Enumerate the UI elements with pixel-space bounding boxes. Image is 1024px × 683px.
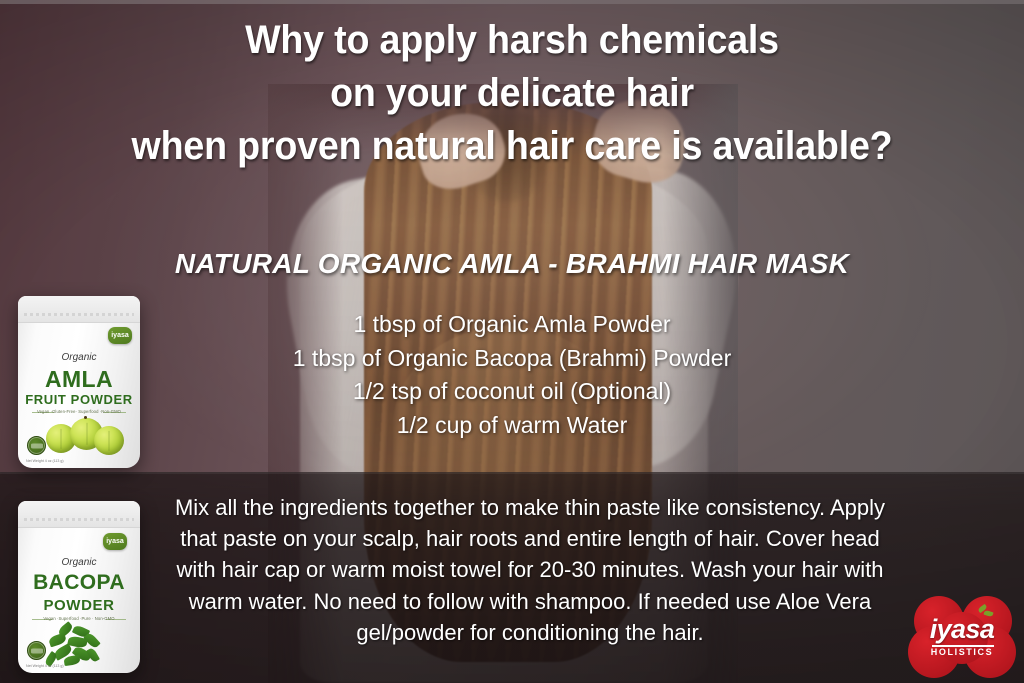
pouch-tagline: Vegan ·Superfood ·Pure · Non-GMO bbox=[18, 616, 140, 621]
leaf-icon bbox=[63, 655, 80, 666]
infographic-poster: Why to apply harsh chemicals on your del… bbox=[0, 0, 1024, 683]
leaf-icon bbox=[86, 647, 100, 663]
top-edge-strip bbox=[0, 0, 1024, 4]
logo-tagline: HOLISTICS bbox=[908, 647, 1016, 657]
brand-logo: iyasa HOLISTICS bbox=[908, 588, 1016, 683]
pouch-zipper bbox=[24, 313, 134, 316]
ingredient-list: 1 tbsp of Organic Amla Powder 1 tbsp of … bbox=[0, 308, 1024, 442]
ingredient-item: 1/2 tsp of coconut oil (Optional) bbox=[0, 375, 1024, 409]
logo-wordmark: iyasa bbox=[908, 614, 1016, 645]
pouch-product-subtitle: POWDER bbox=[18, 597, 140, 614]
product-pouch-amla: iyasa Organic AMLA FRUIT POWDER Vegan ·G… bbox=[18, 296, 140, 468]
ingredient-item: 1 tbsp of Organic Bacopa (Brahmi) Powder bbox=[0, 342, 1024, 376]
usda-organic-seal-icon bbox=[27, 641, 46, 660]
dark-band-top-edge bbox=[0, 472, 1024, 474]
pouch-brand-badge: iyasa bbox=[103, 533, 127, 550]
ingredient-item: 1 tbsp of Organic Amla Powder bbox=[0, 308, 1024, 342]
amla-stem-icon bbox=[84, 416, 87, 419]
usda-organic-seal-icon bbox=[27, 436, 46, 455]
amla-fruit-icon bbox=[94, 426, 124, 455]
pouch-organic-label: Organic bbox=[18, 557, 140, 568]
pouch-product-name: BACOPA bbox=[18, 571, 140, 595]
pouch-product-name: AMLA bbox=[18, 366, 140, 393]
pouch-zipper bbox=[24, 518, 134, 521]
pouch-brand-badge: iyasa bbox=[108, 327, 132, 344]
pouch-product-subtitle: FRUIT POWDER bbox=[18, 392, 140, 407]
recipe-title: NATURAL ORGANIC AMLA - BRAHMI HAIR MASK bbox=[0, 248, 1024, 280]
headline-line-3: when proven natural hair care is availab… bbox=[31, 120, 994, 173]
ingredient-item: 1/2 cup of warm Water bbox=[0, 409, 1024, 443]
pouch-net-weight: Net Weight 4 oz (113 g) bbox=[26, 664, 64, 668]
headline: Why to apply harsh chemicals on your del… bbox=[31, 14, 994, 172]
pouch-top-seal bbox=[18, 296, 140, 323]
pouch-tagline: Vegan ·Gluten-Free· Superfood ·Non-GMO bbox=[18, 409, 140, 414]
headline-line-1: Why to apply harsh chemicals bbox=[31, 14, 994, 67]
leaf-icon bbox=[83, 632, 100, 650]
pouch-top-seal bbox=[18, 501, 140, 528]
instructions-paragraph: Mix all the ingredients together to make… bbox=[160, 492, 900, 648]
pouch-net-weight: Net Weight 4 oz (113 g) bbox=[26, 459, 64, 463]
headline-line-2: on your delicate hair bbox=[31, 67, 994, 120]
pouch-organic-label: Organic bbox=[18, 352, 140, 363]
product-pouch-bacopa: iyasa Organic BACOPA POWDER Vegan ·Super… bbox=[18, 501, 140, 673]
